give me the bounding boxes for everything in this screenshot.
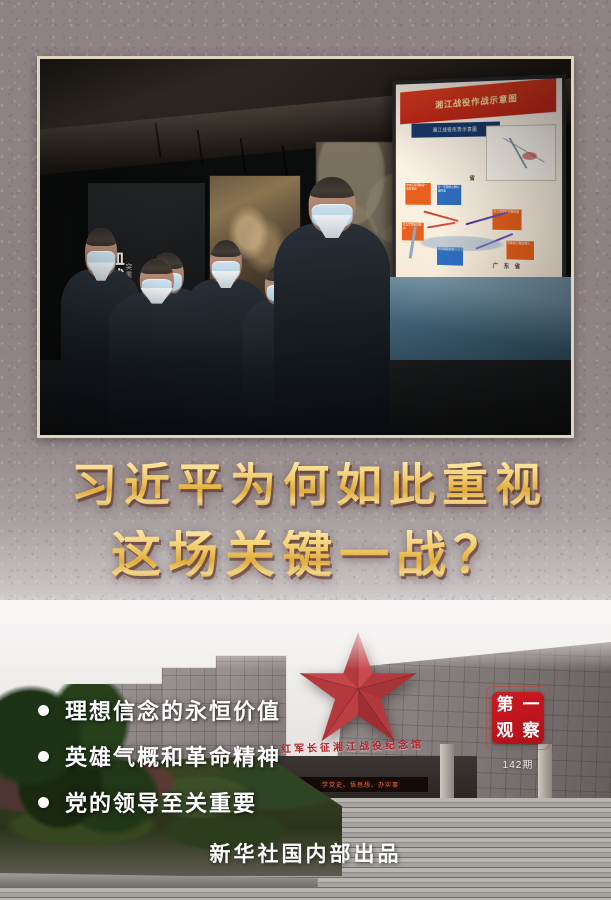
map-arrow-red	[424, 211, 459, 222]
poster-root: 血战湘江 突重围 湘江战役作战示意图 湘江战役形势示意图 中央红军突破第一道封锁…	[0, 0, 611, 900]
map-province-label: 省	[470, 173, 477, 182]
battle-map-title: 湘江战役作战示意图	[401, 78, 557, 124]
battle-map-surface: 湘江战役作战示意图 湘江战役形势示意图 中央红军突破第一道封锁线 红一军团抢占脚…	[396, 78, 562, 288]
seal-char-2: 一	[523, 697, 540, 714]
bullet-item: 党的领导至关重要	[38, 786, 368, 818]
person-hair	[140, 259, 174, 275]
bullet-dot-icon	[38, 751, 49, 762]
battle-map-inset	[486, 124, 556, 180]
title-line-2: 这场关键一战？	[0, 530, 611, 580]
photo-top-blend	[0, 600, 611, 670]
person-figure-main	[274, 179, 391, 435]
seal-issue-number: 142期	[481, 756, 555, 771]
title-line-1: 习近平为何如此重视	[0, 462, 611, 508]
map-callout: 中央红军突破第一道封锁线	[405, 183, 430, 205]
seal-char-4: 察	[523, 723, 540, 740]
person-hair	[210, 240, 242, 257]
person-hair	[309, 177, 356, 198]
top-photo: 血战湘江 突重围 湘江战役作战示意图 湘江战役形势示意图 中央红军突破第一道封锁…	[40, 59, 571, 435]
bullet-list: 理想信念的永恒价值 英雄气概和革命精神 党的领导至关重要	[38, 694, 368, 832]
seal-bracket: 第 一 观 察	[486, 686, 550, 750]
bullet-item: 理想信念的永恒价值	[38, 694, 368, 726]
top-photo-frame: 血战湘江 突重围 湘江战役作战示意图 湘江战役形势示意图 中央红军突破第一道封锁…	[37, 56, 574, 438]
map-river-xiangjiang	[402, 226, 554, 262]
bullet-label: 英雄气概和革命精神	[65, 740, 281, 772]
bullet-item: 英雄气概和革命精神	[38, 740, 368, 772]
poster-title: 习近平为何如此重视 这场关键一战？	[0, 462, 611, 580]
person-body	[274, 223, 391, 435]
bullet-label: 党的领导至关重要	[65, 786, 257, 818]
series-seal: 第 一 观 察 142期	[481, 686, 555, 771]
bullet-label: 理想信念的永恒价值	[65, 694, 281, 726]
bullet-dot-icon	[38, 705, 49, 716]
publisher-credit: 新华社国内部出品	[0, 838, 611, 868]
map-callout: 红一军团抢占脚山铺阵地	[437, 185, 461, 205]
person-hair	[85, 228, 117, 247]
seal-char-1: 第	[497, 697, 514, 714]
map-province-label: 广 东 省	[493, 261, 522, 271]
battle-map-board: 湘江战役作战示意图 湘江战役形势示意图 中央红军突破第一道封锁线 红一军团抢占脚…	[393, 74, 566, 292]
seal-char-3: 观	[497, 723, 514, 740]
bullet-dot-icon	[38, 797, 49, 808]
seal-stamp: 第 一 观 察	[492, 692, 544, 744]
